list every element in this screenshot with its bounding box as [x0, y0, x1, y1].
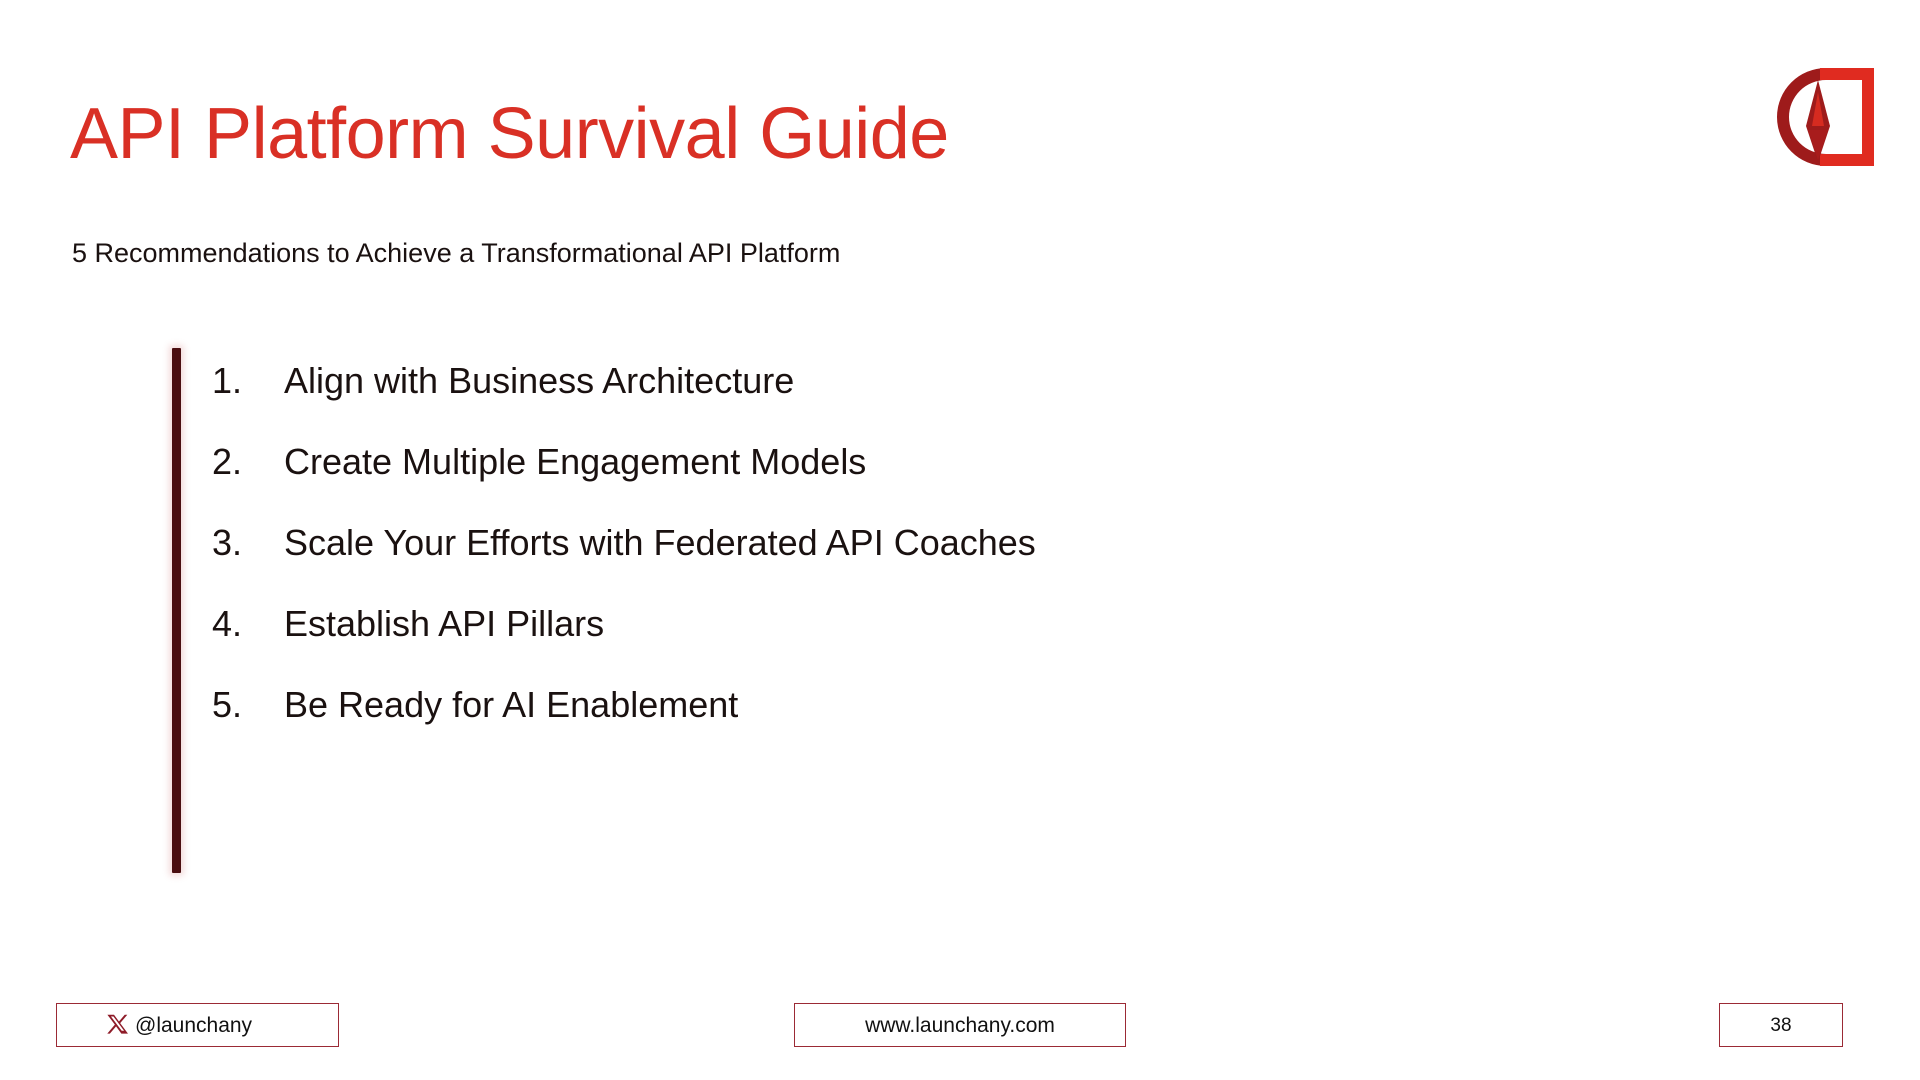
footer-social-box[interactable]: @launchany — [56, 1003, 339, 1047]
list-item-number: 5. — [212, 664, 284, 745]
list-item-label: Align with Business Architecture — [284, 340, 1772, 421]
x-twitter-icon — [105, 1013, 131, 1039]
page-title: API Platform Survival Guide — [70, 97, 949, 173]
list-item-number: 2. — [212, 421, 284, 502]
recommendations-block: 1. Align with Business Architecture 2. C… — [172, 340, 1772, 885]
footer-social-handle: @launchany — [135, 1015, 252, 1036]
launchany-logo-icon — [1762, 62, 1882, 172]
list-item-number: 4. — [212, 583, 284, 664]
list-item-label: Be Ready for AI Enablement — [284, 664, 1772, 745]
slide-canvas: API Platform Survival Guide 5 Recommenda… — [0, 0, 1920, 1080]
list-item-label: Scale Your Efforts with Federated API Co… — [284, 502, 1772, 583]
list-item: 1. Align with Business Architecture — [212, 340, 1772, 421]
list-item-number: 1. — [212, 340, 284, 421]
list-item: 5. Be Ready for AI Enablement — [212, 664, 1772, 745]
list-item: 2. Create Multiple Engagement Models — [212, 421, 1772, 502]
list-item: 4. Establish API Pillars — [212, 583, 1772, 664]
page-number: 38 — [1770, 1016, 1791, 1035]
footer-website-box[interactable]: www.launchany.com — [794, 1003, 1126, 1047]
page-subtitle: 5 Recommendations to Achieve a Transform… — [72, 237, 840, 269]
footer-page-number-box: 38 — [1719, 1003, 1843, 1047]
footer-website-text: www.launchany.com — [865, 1015, 1055, 1036]
recommendations-list: 1. Align with Business Architecture 2. C… — [212, 340, 1772, 745]
list-item: 3. Scale Your Efforts with Federated API… — [212, 502, 1772, 583]
list-item-label: Establish API Pillars — [284, 583, 1772, 664]
list-item-label: Create Multiple Engagement Models — [284, 421, 1772, 502]
list-item-number: 3. — [212, 502, 284, 583]
accent-bar — [172, 348, 181, 873]
launchany-logo — [1762, 62, 1882, 172]
